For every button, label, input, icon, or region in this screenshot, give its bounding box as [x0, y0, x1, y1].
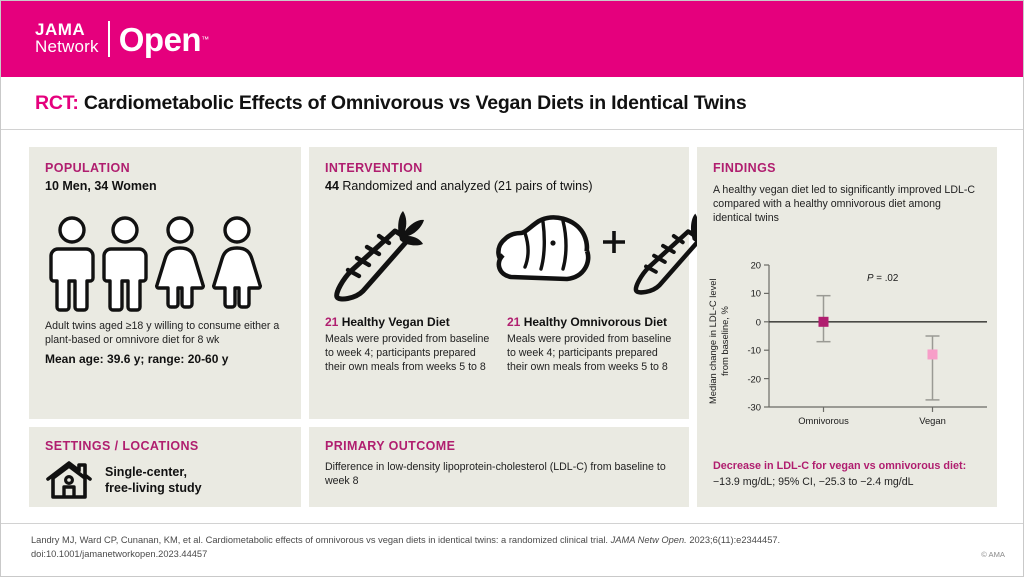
chart-p-text: = .02	[874, 273, 899, 284]
citation-main: Landry MJ, Ward CP, Cunanan, KM, et al. …	[31, 535, 611, 545]
arm-vegan: 21 Healthy Vegan Diet Meals were provide…	[325, 315, 491, 375]
citation-doi[interactable]: doi:10.1001/jamanetworkopen.2023.44457	[31, 548, 931, 562]
conclusion-body: −13.9 mg/dL; 95% CI, −25.3 to −2.4 mg/dL	[713, 476, 985, 488]
copyright: © AMA	[981, 550, 1005, 559]
settings-line2: free-living study	[105, 480, 202, 496]
visual-abstract-page: JAMA Network Open ™ RCT: Cardiometabolic…	[0, 0, 1024, 577]
arm-omnivorous-title: 21 Healthy Omnivorous Diet	[507, 315, 673, 329]
citation: Landry MJ, Ward CP, Cunanan, KM, et al. …	[31, 534, 931, 562]
intervention-randomized: 44 Randomized and analyzed (21 pairs of …	[325, 179, 673, 193]
intervention-icons	[321, 203, 681, 308]
chart-x-tick: Omnivorous	[774, 415, 874, 426]
population-summary: 10 Men, 34 Women	[45, 179, 285, 193]
chart-y-tick: -30	[747, 402, 761, 413]
logo-open-text: Open	[119, 23, 201, 56]
findings-conclusion: Decrease in LDL-C for vegan vs omnivorou…	[713, 459, 985, 488]
chart-y-axis-label: Median change in LDL-C level from baseli…	[707, 277, 731, 405]
population-figures	[47, 207, 287, 315]
population-note: Adult twins aged ≥18 y willing to consum…	[45, 319, 289, 347]
chart-y-tick: -20	[747, 373, 761, 384]
settings-row: Single-center, free-living study	[45, 459, 285, 501]
chart-x-tick: Vegan	[883, 415, 983, 426]
logo-divider	[108, 21, 110, 57]
trademark-icon: ™	[201, 35, 209, 44]
woman-figure	[153, 215, 207, 315]
findings-panel: FINDINGS A healthy vegan diet led to sig…	[697, 147, 997, 507]
arm-vegan-title: 21 Healthy Vegan Diet	[325, 315, 491, 329]
conclusion-heading: Decrease in LDL-C for vegan vs omnivorou…	[713, 459, 985, 474]
findings-text: A healthy vegan diet led to significantl…	[713, 183, 981, 226]
arm-omnivorous-label: Healthy Omnivorous Diet	[520, 315, 667, 329]
population-note-block: Adult twins aged ≥18 y willing to consum…	[45, 319, 289, 366]
plus-icon	[601, 229, 627, 255]
intervention-randomized-text: Randomized and analyzed (21 pairs of twi…	[339, 179, 593, 193]
settings-line1: Single-center,	[105, 464, 202, 480]
outcome-heading: PRIMARY OUTCOME	[325, 439, 673, 453]
settings-heading: SETTINGS / LOCATIONS	[45, 439, 285, 453]
outcome-text: Difference in low-density lipoprotein-ch…	[325, 460, 673, 488]
woman-figure	[210, 215, 264, 315]
chart-y-tick: 20	[751, 260, 761, 271]
logo-network-text: Network	[35, 39, 99, 56]
chart-y-tick: 0	[756, 316, 761, 327]
title-bar: RCT: Cardiometabolic Effects of Omnivoro…	[1, 77, 1023, 130]
carrot-icon	[329, 205, 425, 305]
settings-panel: SETTINGS / LOCATIONS Single-center, free…	[29, 427, 301, 507]
brand-bar: JAMA Network Open ™	[1, 1, 1023, 77]
intervention-arms: 21 Healthy Vegan Diet Meals were provide…	[325, 315, 677, 375]
population-heading: POPULATION	[45, 161, 285, 175]
jama-network-open-logo: JAMA Network Open ™	[35, 17, 209, 61]
population-panel: POPULATION 10 Men, 34 Women	[29, 147, 301, 419]
title-study-type: RCT:	[35, 92, 79, 114]
arm-vegan-label: Healthy Vegan Diet	[338, 315, 449, 329]
settings-text: Single-center, free-living study	[105, 464, 202, 496]
citation-journal: JAMA Netw Open.	[611, 535, 687, 545]
man-figure	[100, 215, 150, 315]
arm-omnivorous-count: 21	[507, 315, 520, 329]
arm-omnivorous-detail: Meals were provided from baseline to wee…	[507, 332, 673, 375]
logo-left: JAMA Network	[35, 22, 108, 55]
arm-vegan-count: 21	[325, 315, 338, 329]
arm-omnivorous: 21 Healthy Omnivorous Diet Meals were pr…	[507, 315, 673, 375]
arm-vegan-detail: Meals were provided from baseline to wee…	[325, 332, 491, 375]
intervention-heading: INTERVENTION	[325, 161, 673, 175]
page-title: RCT: Cardiometabolic Effects of Omnivoro…	[1, 92, 747, 115]
house-icon	[45, 459, 93, 501]
intervention-randomized-count: 44	[325, 179, 339, 193]
primary-outcome-panel: PRIMARY OUTCOME Difference in low-densit…	[309, 427, 689, 507]
chart-y-tick: -10	[747, 345, 761, 356]
chart-y-tick: 10	[751, 288, 761, 299]
citation-tail: 2023;6(11):e2344457.	[687, 535, 780, 545]
steak-icon	[491, 211, 595, 283]
intervention-panel: INTERVENTION 44 Randomized and analyzed …	[309, 147, 689, 419]
title-main-text: Cardiometabolic Effects of Omnivorous vs…	[79, 92, 747, 114]
chart-p-value: P = .02	[867, 273, 898, 284]
findings-heading: FINDINGS	[713, 161, 981, 175]
footer: Landry MJ, Ward CP, Cunanan, KM, et al. …	[1, 523, 1023, 576]
man-figure	[47, 215, 97, 315]
population-age: Mean age: 39.6 y; range: 20-60 y	[45, 352, 289, 366]
ldl-change-chart: Median change in LDL-C level from baseli…	[705, 251, 993, 441]
